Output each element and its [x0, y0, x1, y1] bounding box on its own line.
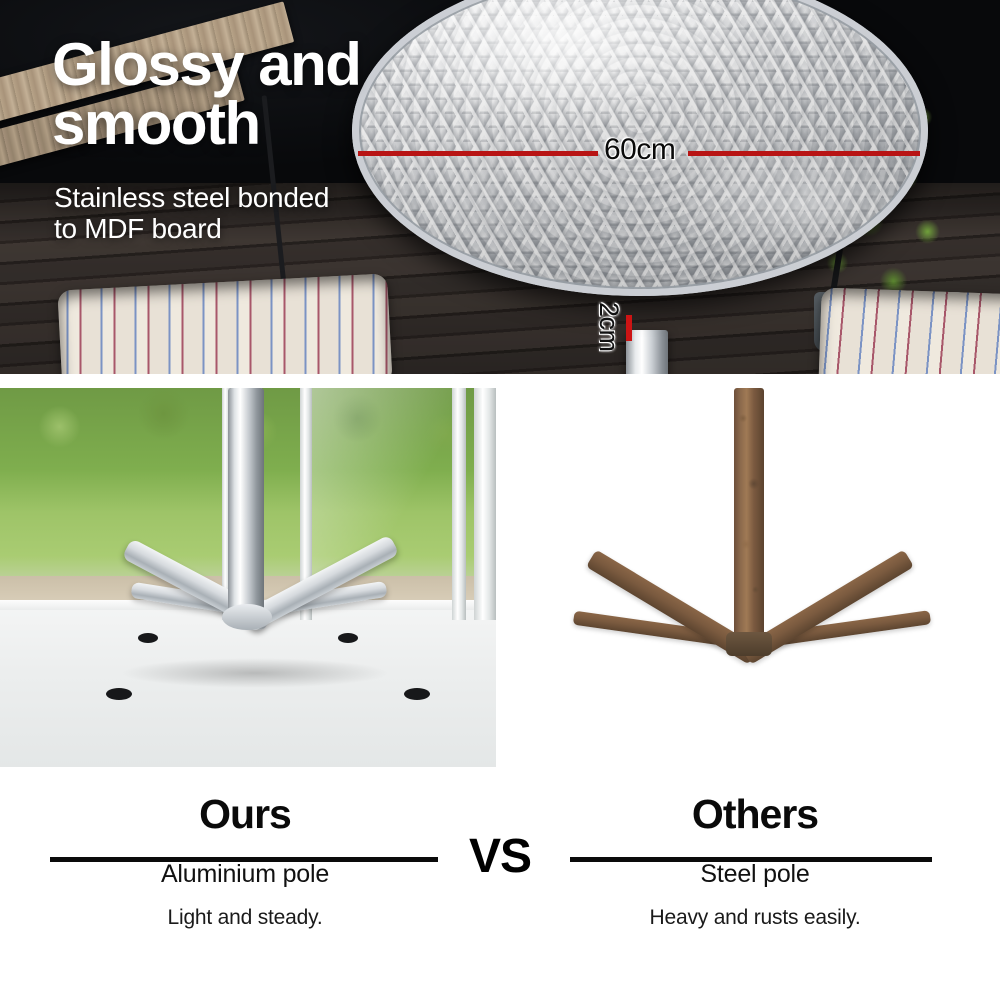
aluminium-pole — [228, 388, 264, 618]
base-shadow — [120, 658, 390, 688]
window-frame — [452, 388, 466, 620]
diameter-leader-left — [358, 151, 598, 156]
rusty-hub — [726, 632, 772, 656]
vs-label: VS — [0, 829, 1000, 884]
thickness-label: 2cm — [593, 302, 624, 352]
product-feature-image: Glossy and smooth Stainless steel bonded… — [0, 0, 1000, 1000]
aluminium-base-photo — [0, 388, 496, 767]
window-frame — [474, 388, 496, 620]
thickness-tick — [626, 315, 632, 341]
base-foot — [138, 633, 158, 643]
striped-cushion-right — [818, 287, 1000, 374]
comparison-block: Ours Aluminium pole Light and steady. Ot… — [0, 767, 1000, 1000]
hero-panel: Glossy and smooth Stainless steel bonded… — [0, 0, 1000, 374]
steel-base-photo — [500, 388, 1000, 767]
table-pole — [626, 330, 668, 374]
base-foot — [404, 688, 430, 700]
hero-subhead: Stainless steel bonded to MDF board — [54, 182, 329, 245]
ours-note: Light and steady. — [30, 906, 460, 930]
page-title: Glossy and smooth — [52, 36, 360, 154]
others-note: Heavy and rusts easily. — [540, 906, 970, 930]
base-foot — [338, 633, 358, 643]
aluminium-hub — [222, 604, 272, 630]
base-foot — [106, 688, 132, 700]
comparison-photo-row: 58mm — [0, 388, 1000, 767]
rusty-steel-pole — [734, 388, 764, 640]
striped-cushion-left — [57, 273, 392, 374]
diameter-leader-right — [688, 151, 920, 156]
diameter-label: 60cm — [604, 133, 675, 167]
